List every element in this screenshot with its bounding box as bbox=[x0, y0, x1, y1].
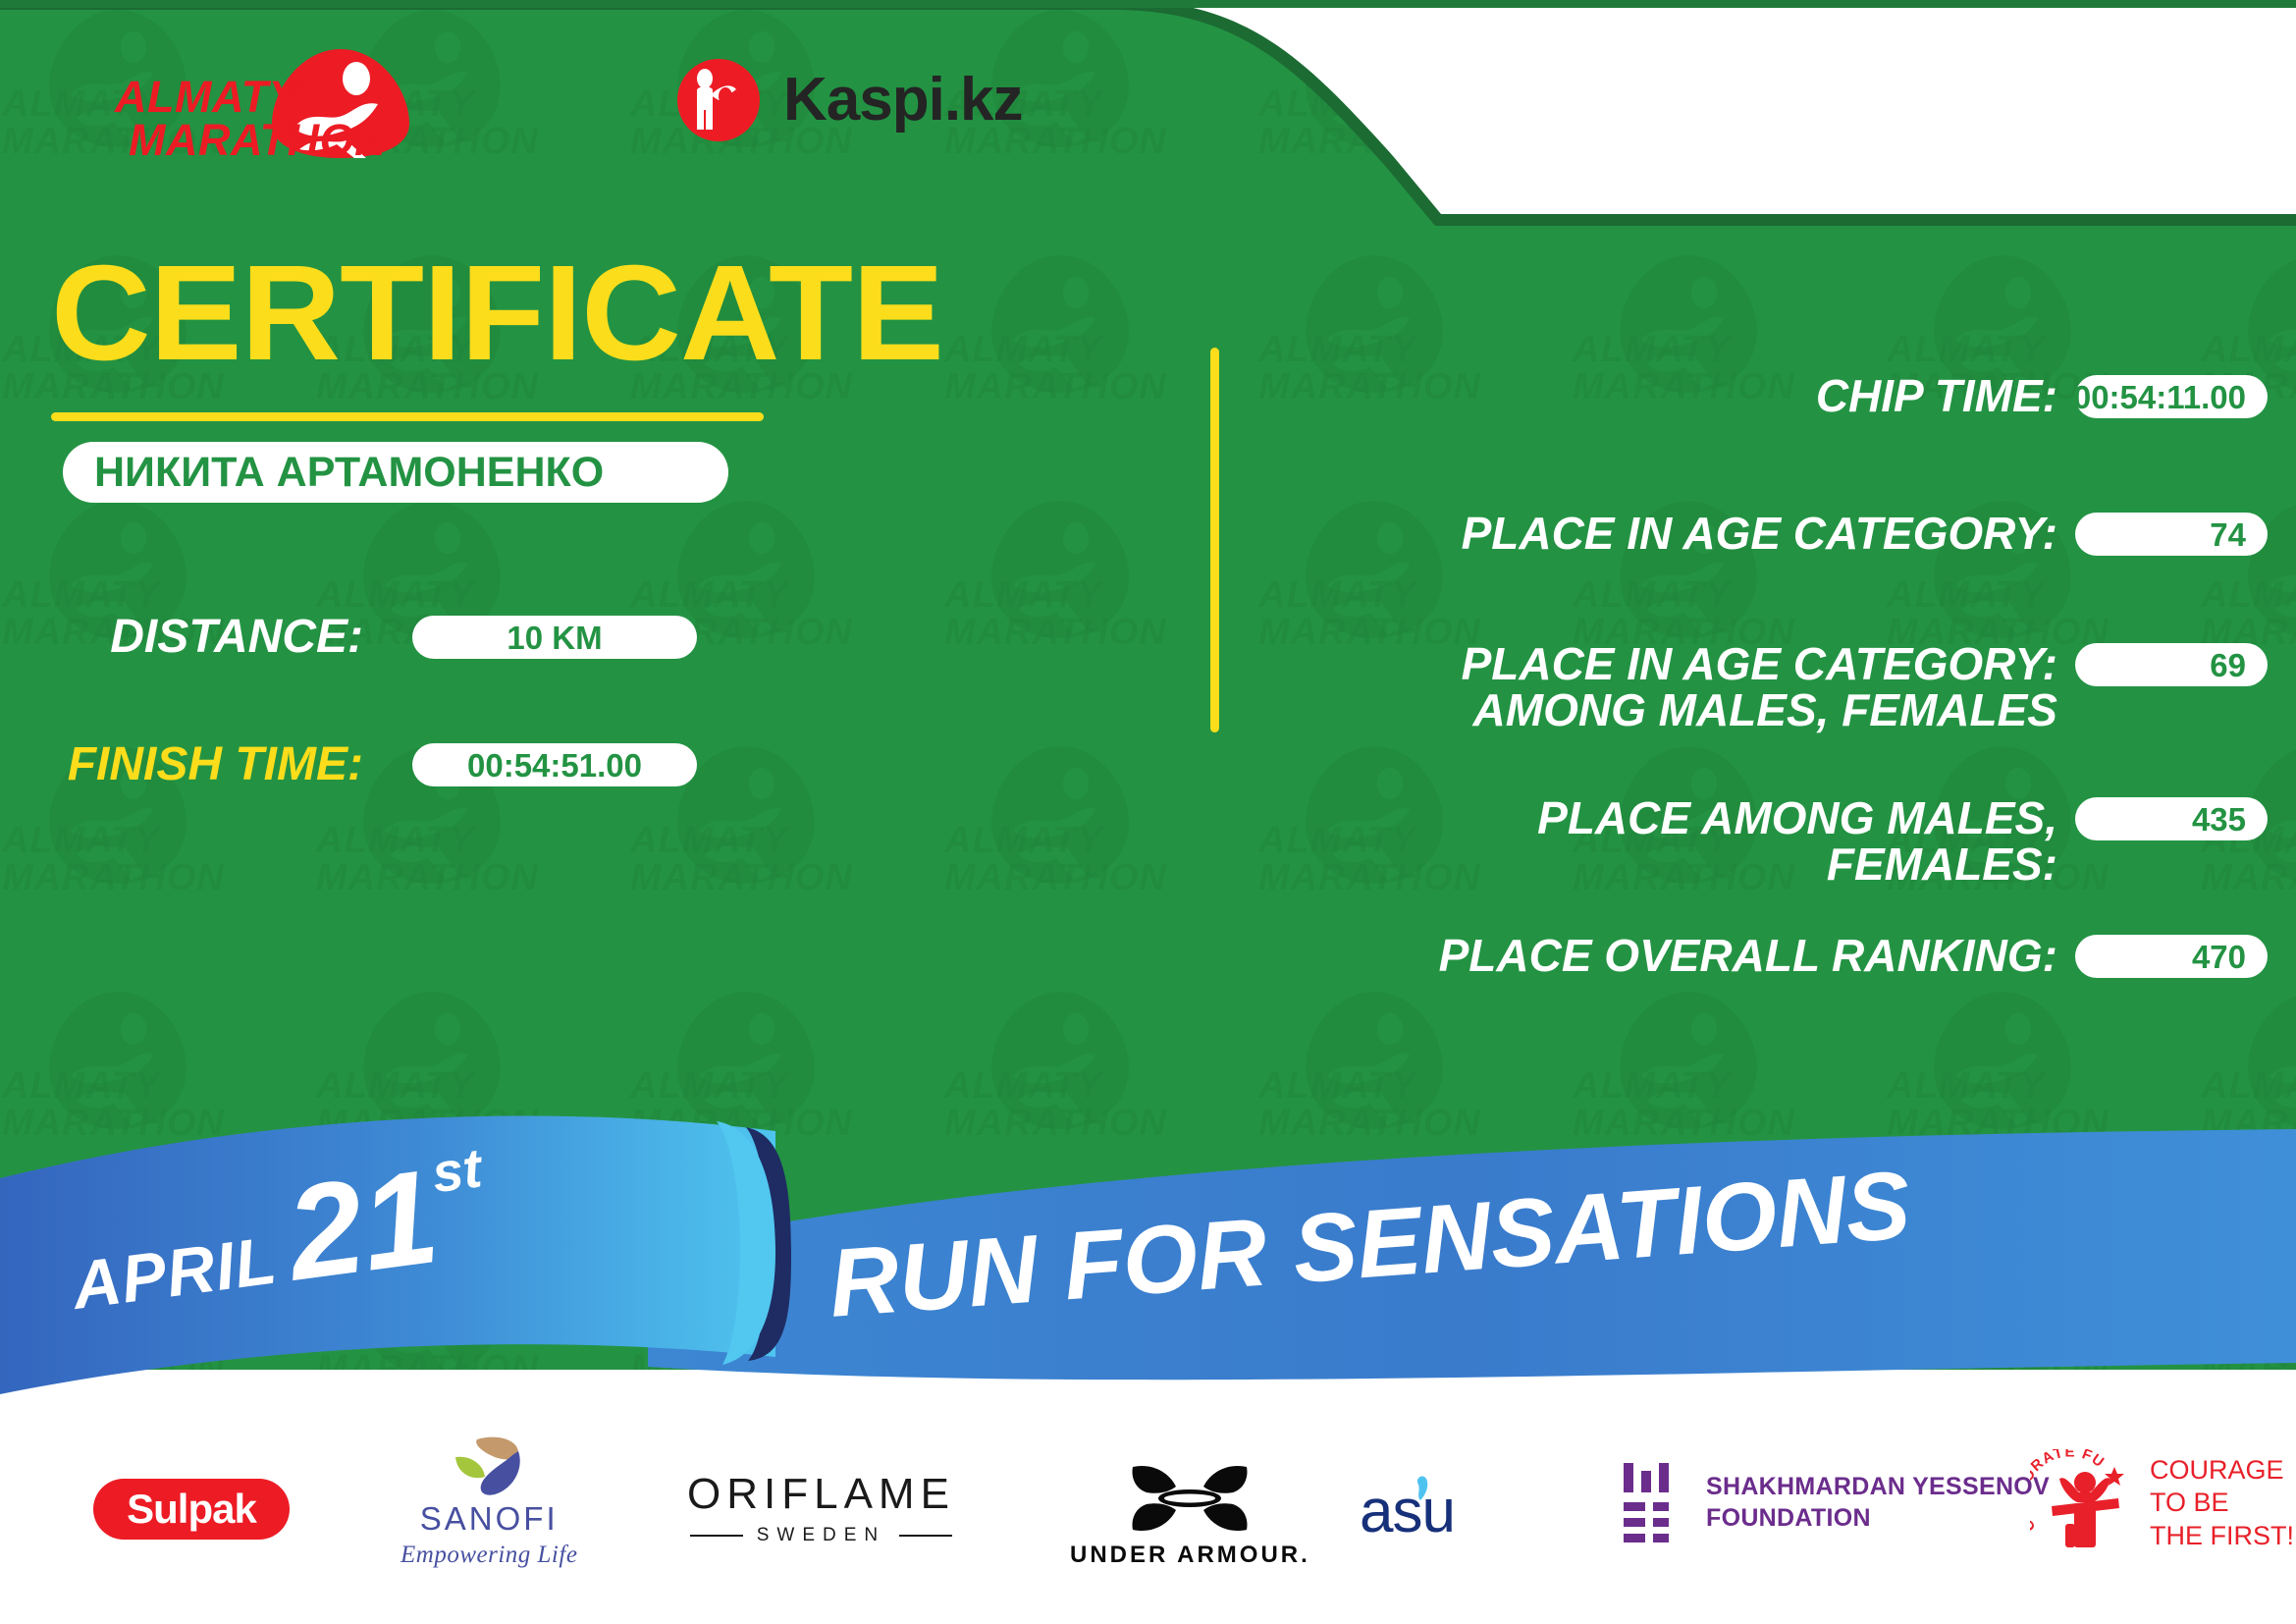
distance-row: DISTANCE: 10 KM bbox=[0, 614, 1099, 661]
sulpak-label: Sulpak bbox=[127, 1489, 256, 1530]
stat-value: 74 bbox=[2210, 518, 2268, 551]
oriflame-rule-left bbox=[690, 1535, 743, 1537]
event-day-suffix: st bbox=[429, 1140, 485, 1201]
oriflame-sub: SWEDEN bbox=[757, 1526, 885, 1544]
kaspi-people-circle-icon bbox=[675, 57, 762, 143]
yessenov-logo: SHAKHMARDAN YESSENOV FOUNDATION bbox=[1620, 1461, 2050, 1543]
stat-value-pill: 69 bbox=[2075, 643, 2268, 686]
stat-value: 69 bbox=[2210, 649, 2268, 681]
participant-name: НИКИТА АРТАМОНЕНКО bbox=[63, 452, 604, 494]
stat-value-pill: 00:54:11.00 bbox=[2075, 375, 2268, 418]
under-armour-logo: UNDER ARMOUR. bbox=[1070, 1461, 1310, 1567]
under-armour-label: UNDER ARMOUR. bbox=[1070, 1543, 1310, 1567]
stat-value: 470 bbox=[2192, 941, 2268, 973]
under-armour-mark-icon bbox=[1125, 1461, 1255, 1538]
yessenov-mark-icon bbox=[1620, 1461, 1681, 1543]
yessenov-label: SHAKHMARDAN YESSENOV FOUNDATION bbox=[1706, 1471, 2050, 1534]
sponsor-sulpak: Sulpak bbox=[93, 1479, 290, 1540]
participant-name-field: НИКИТА АРТАМОНЕНКО bbox=[63, 442, 728, 503]
sponsor-asu: asu bbox=[1360, 1471, 1505, 1549]
sponsor-yessenov-foundation: SHAKHMARDAN YESSENOV FOUNDATION bbox=[1620, 1461, 2050, 1543]
distance-value: 10 KM bbox=[507, 622, 602, 654]
title-underline bbox=[51, 412, 764, 421]
stat-label: PLACE AMONG MALES, FEMALES: bbox=[1247, 795, 2075, 889]
courage-runner-icon: CORPORATE FUND bbox=[2030, 1449, 2136, 1557]
certificate-canvas: ALMATY MARATHON bbox=[0, 0, 2296, 1624]
marathon-text: MARATHON bbox=[129, 115, 388, 160]
column-divider bbox=[1210, 348, 1219, 732]
event-day: 21 bbox=[280, 1149, 445, 1301]
distance-label: DISTANCE: bbox=[0, 614, 363, 661]
oriflame-sub-row: SWEDEN bbox=[687, 1526, 955, 1544]
finish-time-value-pill: 00:54:51.00 bbox=[412, 743, 697, 786]
page-title: CERTIFICATE bbox=[51, 245, 943, 381]
stat-label: PLACE IN AGE CATEGORY: AMONG MALES, FEMA… bbox=[1247, 641, 2075, 734]
stat-row-chip-time: CHIP TIME: 00:54:11.00 bbox=[1247, 373, 2268, 419]
sponsor-bar: Sulpak SANOFI Empowering Life ORIFLAME S… bbox=[0, 1414, 2296, 1610]
sanofi-mark-icon bbox=[444, 1435, 534, 1498]
event-month: APRIL bbox=[69, 1226, 281, 1320]
stat-value-pill: 74 bbox=[2075, 513, 2268, 556]
stat-row-place-age-category: PLACE IN AGE CATEGORY: 74 bbox=[1247, 511, 2268, 557]
oriflame-label: ORIFLAME bbox=[687, 1473, 955, 1516]
sanofi-label: SANOFI bbox=[420, 1502, 559, 1535]
sanofi-tagline: Empowering Life bbox=[400, 1543, 577, 1567]
kaspi-label: Kaspi.kz bbox=[783, 70, 1023, 131]
finish-time-value: 00:54:51.00 bbox=[467, 749, 642, 782]
stat-row-place-among-gender: PLACE AMONG MALES, FEMALES: 435 bbox=[1247, 795, 2268, 889]
sponsor-sanofi: SANOFI Empowering Life bbox=[400, 1435, 577, 1567]
distance-value-pill: 10 KM bbox=[412, 616, 697, 659]
oriflame-logo: ORIFLAME SWEDEN bbox=[687, 1473, 955, 1544]
sponsor-oriflame: ORIFLAME SWEDEN bbox=[687, 1473, 955, 1544]
header-logo-bar: ALMATY MARATHON Kaspi.kz bbox=[0, 0, 1158, 196]
stat-row-place-overall: PLACE OVERALL RANKING: 470 bbox=[1247, 933, 2268, 979]
stat-label: CHIP TIME: bbox=[1247, 373, 2075, 419]
finish-time-label: FINISH TIME: bbox=[0, 741, 363, 788]
oriflame-rule-right bbox=[899, 1535, 952, 1537]
stat-label: PLACE IN AGE CATEGORY: bbox=[1247, 511, 2075, 557]
sponsor-corporate-fund: CORPORATE FUND COURAGE TO BE THE FIRST! bbox=[2030, 1449, 2294, 1557]
asu-label: asu bbox=[1360, 1478, 1455, 1545]
event-ribbon: APRIL 21 st RUN FOR SENSATIONS bbox=[0, 1070, 2296, 1434]
almaty-marathon-logo-svg: ALMATY MARATHON bbox=[113, 47, 417, 160]
asu-logo: asu bbox=[1360, 1471, 1505, 1549]
sanofi-logo: SANOFI Empowering Life bbox=[400, 1435, 577, 1567]
courage-label: COURAGE TO BE THE FIRST! bbox=[2150, 1454, 2294, 1552]
finish-time-row: FINISH TIME: 00:54:51.00 bbox=[0, 741, 1099, 788]
stat-value-pill: 435 bbox=[2075, 797, 2268, 840]
kaspi-logo: Kaspi.kz bbox=[675, 57, 1023, 143]
sulpak-logo: Sulpak bbox=[93, 1479, 290, 1540]
stat-value: 00:54:11.00 bbox=[2073, 381, 2268, 413]
corporate-fund-logo: CORPORATE FUND COURAGE TO BE THE FIRST! bbox=[2030, 1449, 2294, 1557]
stat-row-place-age-category-gender: PLACE IN AGE CATEGORY: AMONG MALES, FEMA… bbox=[1247, 641, 2268, 734]
almaty-marathon-logo: ALMATY MARATHON bbox=[113, 47, 417, 165]
stat-label: PLACE OVERALL RANKING: bbox=[1247, 933, 2075, 979]
stat-value: 435 bbox=[2192, 803, 2268, 836]
sponsor-under-armour: UNDER ARMOUR. bbox=[1070, 1461, 1310, 1567]
stat-value-pill: 470 bbox=[2075, 935, 2268, 978]
